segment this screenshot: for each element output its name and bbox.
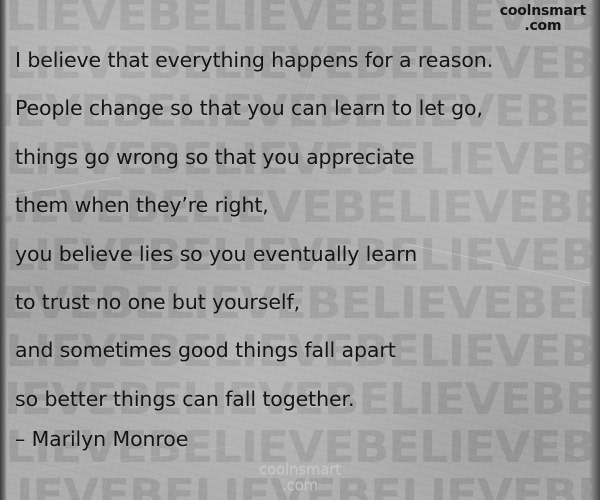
watermark-bottom-domain: .com [0, 477, 600, 493]
quote-line: things go wrong so that you appreciate [15, 133, 582, 181]
quote-line: to trust no one but yourself, [15, 278, 582, 326]
quote-line: and sometimes good things fall apart [15, 326, 582, 374]
watermark-bottom: coolnsmart .com [0, 461, 600, 493]
quote-line: them when they’re right, [15, 181, 582, 229]
quote-line: People change so that you can learn to l… [15, 84, 582, 132]
watermark-top-name: coolnsmart [500, 3, 586, 19]
quote-line: I believe that everything happens for a … [15, 36, 582, 84]
quote-line: you believe lies so you eventually learn [15, 230, 582, 278]
watermark-top-domain: .com [500, 19, 586, 34]
watermark-top: coolnsmart .com [500, 4, 586, 34]
quote-image: BELIEVEBELIEVEBELIEVEBELIEVE BELIEVEBELI… [0, 0, 600, 500]
quote-line: so better things can fall together. [15, 375, 582, 423]
quote-text: I believe that everything happens for a … [15, 36, 582, 423]
quote-attribution: – Marilyn Monroe [15, 424, 188, 454]
